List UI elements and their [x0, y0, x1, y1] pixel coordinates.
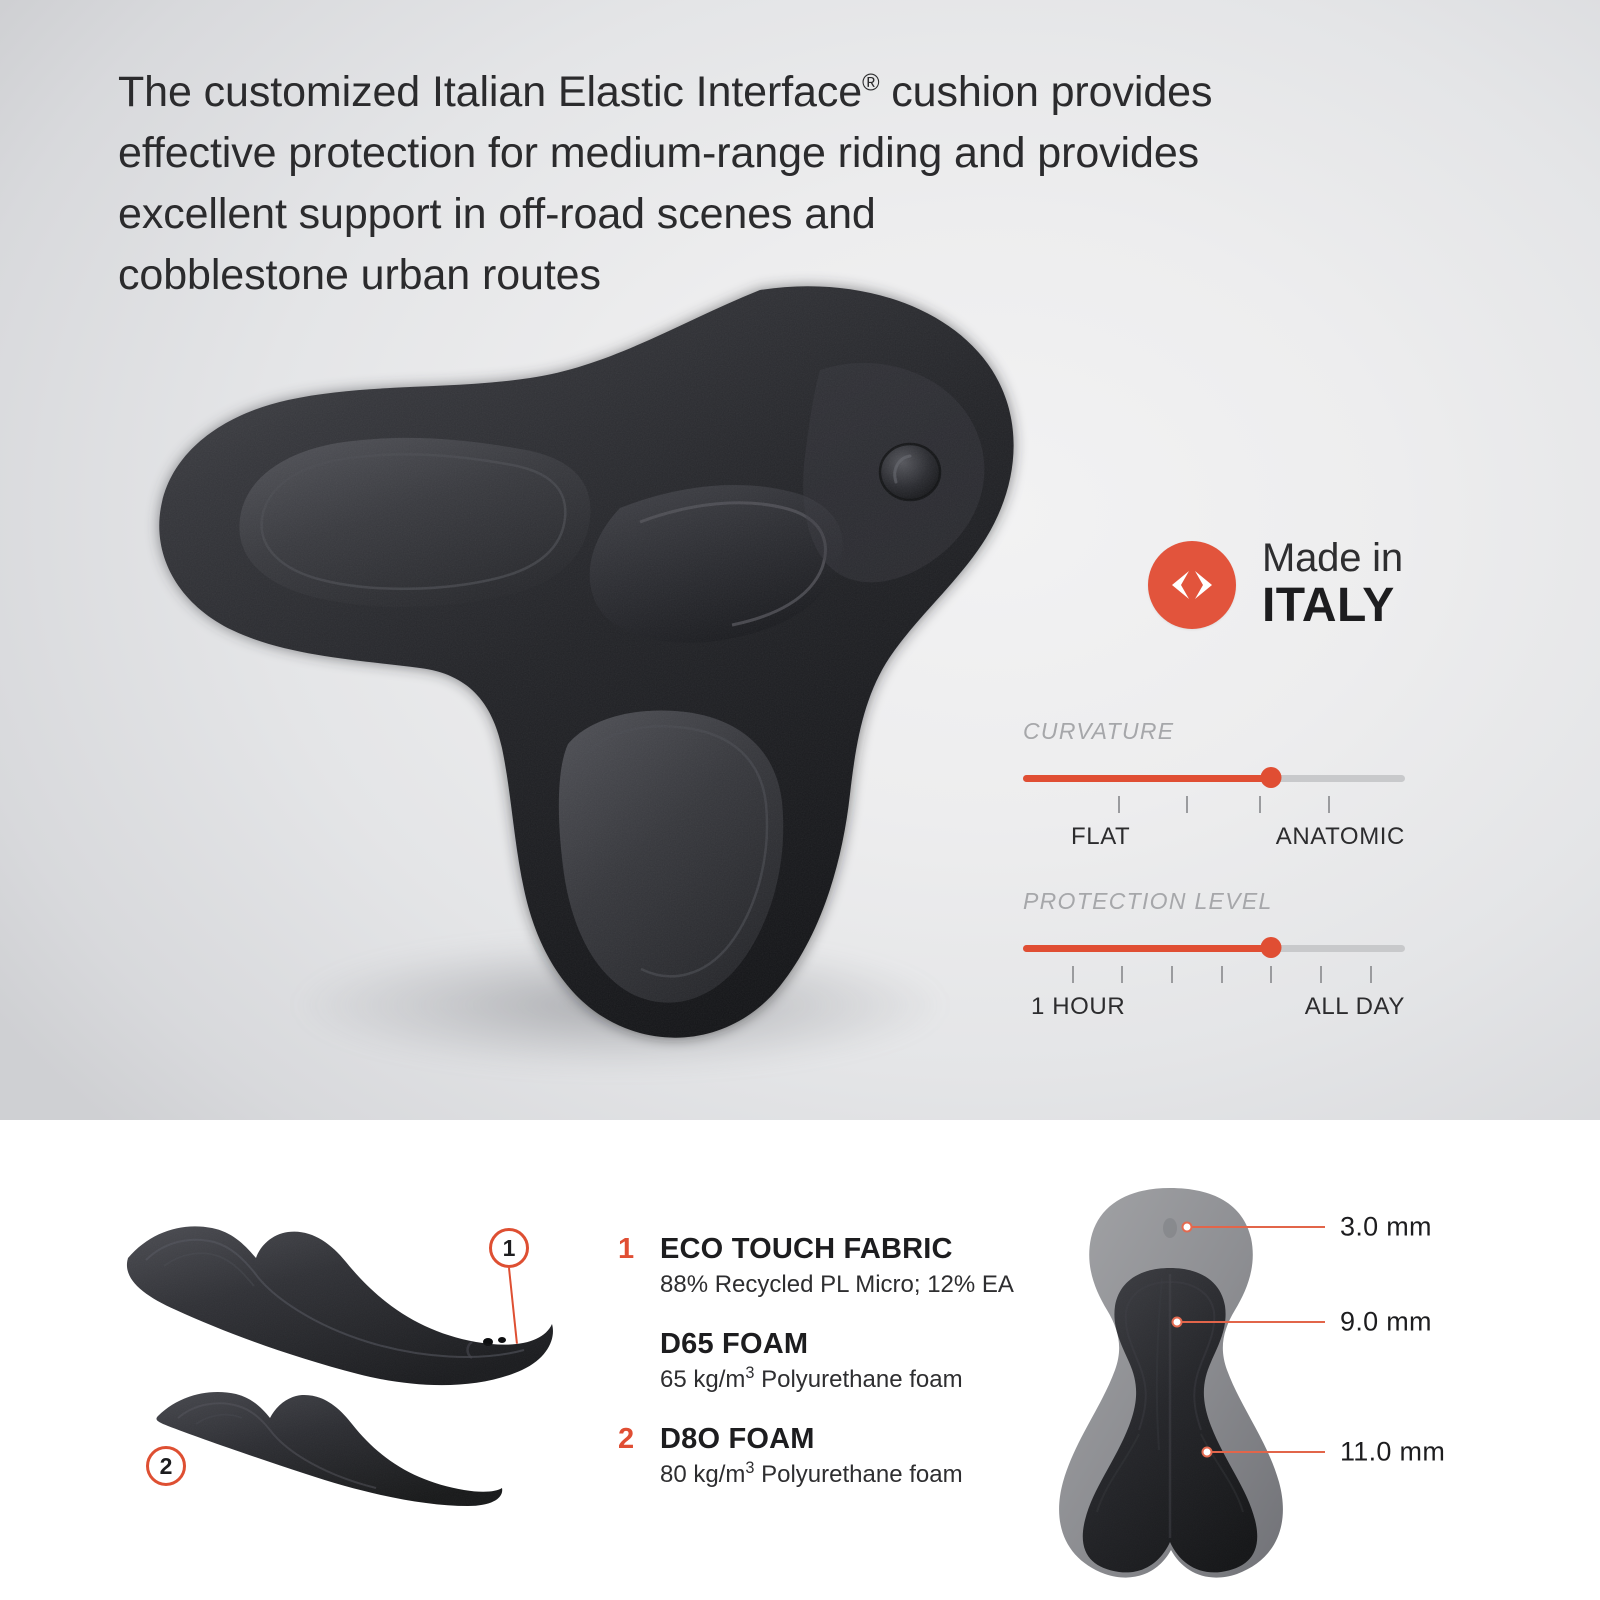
protection-slider-ticks — [1023, 966, 1405, 986]
thickness-label: 9.0 mm — [1340, 1307, 1432, 1338]
product-photo — [120, 250, 1080, 1080]
tick-mark — [1121, 966, 1123, 983]
protection-slider-track[interactable] — [1023, 943, 1405, 953]
tick-mark — [1259, 796, 1261, 813]
callout-1-number: 1 — [503, 1235, 516, 1262]
tick-mark — [1171, 966, 1173, 983]
material-row: 1 ECO TOUCH FABRIC 88% Recycled PL Micro… — [618, 1232, 1018, 1301]
material-description: 65 kg/m3 Polyurethane foam — [660, 1364, 1018, 1396]
protection-slider-endlabels: 1 HOUR ALL DAY — [1023, 993, 1405, 1023]
callout-2-number: 2 — [160, 1453, 173, 1480]
material-name: ECO TOUCH FABRIC — [660, 1232, 1018, 1266]
protection-left-label: 1 HOUR — [1031, 993, 1125, 1021]
curvature-slider-title: CURVATURE — [1023, 718, 1423, 745]
protection-slider-knob[interactable] — [1261, 937, 1282, 958]
curvature-slider-knob[interactable] — [1261, 767, 1282, 788]
bottom-section: 1 2 1 ECO TOUCH FABRIC 88% Recycled PL M… — [0, 1120, 1600, 1600]
thickness-leader-line — [1177, 1321, 1325, 1323]
thickness-dot — [1182, 1222, 1193, 1233]
tick-mark — [1328, 796, 1330, 813]
curvature-slider-group: CURVATURE FLAT ANATOMIC — [1023, 718, 1423, 853]
made-in-italy-text: Made in ITALY — [1262, 538, 1403, 632]
curvature-slider-track[interactable] — [1023, 773, 1405, 783]
material-name: D65 FOAM — [660, 1327, 1018, 1361]
thickness-leader-line — [1187, 1226, 1325, 1228]
tick-mark — [1118, 796, 1120, 813]
protection-track-fill — [1023, 945, 1271, 952]
curvature-slider-endlabels: FLAT ANATOMIC — [1023, 823, 1405, 853]
material-description: 80 kg/m3 Polyurethane foam — [660, 1459, 1018, 1491]
thickness-leader-line — [1207, 1451, 1325, 1453]
curvature-slider-ticks — [1023, 796, 1405, 816]
tick-mark — [1186, 796, 1188, 813]
callout-badge-1: 1 — [489, 1228, 529, 1268]
italy-label: ITALY — [1262, 582, 1403, 630]
material-name: D8O FOAM — [660, 1422, 1018, 1456]
material-number: 2 — [618, 1423, 634, 1456]
made-in-label: Made in — [1262, 538, 1403, 578]
arrows-in-circle-icon — [1148, 541, 1236, 629]
thickness-callouts: 3.0 mm 9.0 mm 11.0 mm — [1035, 1182, 1595, 1582]
tick-mark — [1221, 966, 1223, 983]
curvature-track-fill — [1023, 775, 1271, 782]
made-in-italy-badge: Made in ITALY — [1148, 527, 1448, 642]
tick-mark — [1270, 966, 1272, 983]
thickness-dot — [1172, 1317, 1183, 1328]
tick-mark — [1072, 966, 1074, 983]
tick-mark — [1320, 966, 1322, 983]
material-description: 88% Recycled PL Micro; 12% EA — [660, 1269, 1018, 1301]
curvature-right-label: ANATOMIC — [1276, 823, 1405, 851]
chamois-pad-illustration — [120, 250, 1080, 1080]
curvature-left-label: FLAT — [1071, 823, 1130, 851]
left-right-arrows-glyph — [1165, 568, 1219, 602]
protection-right-label: ALL DAY — [1305, 993, 1405, 1021]
hero-section: The customized Italian Elastic Interface… — [0, 0, 1600, 1120]
thickness-label: 3.0 mm — [1340, 1212, 1432, 1243]
tick-mark — [1370, 966, 1372, 983]
thickness-dot — [1202, 1447, 1213, 1458]
thickness-label: 11.0 mm — [1340, 1437, 1445, 1468]
material-row: 2 D8O FOAM 80 kg/m3 Polyurethane foam — [618, 1422, 1018, 1491]
materials-list: 1 ECO TOUCH FABRIC 88% Recycled PL Micro… — [618, 1232, 1018, 1491]
foam-layers-photo: 1 2 — [120, 1210, 560, 1510]
material-row: D65 FOAM 65 kg/m3 Polyurethane foam — [618, 1327, 1018, 1396]
material-number: 1 — [618, 1233, 634, 1266]
protection-slider-title: PROTECTION LEVEL — [1023, 888, 1423, 915]
callout-badge-2: 2 — [146, 1446, 186, 1486]
protection-slider-group: PROTECTION LEVEL 1 HOUR ALL DAY — [1023, 888, 1423, 1023]
